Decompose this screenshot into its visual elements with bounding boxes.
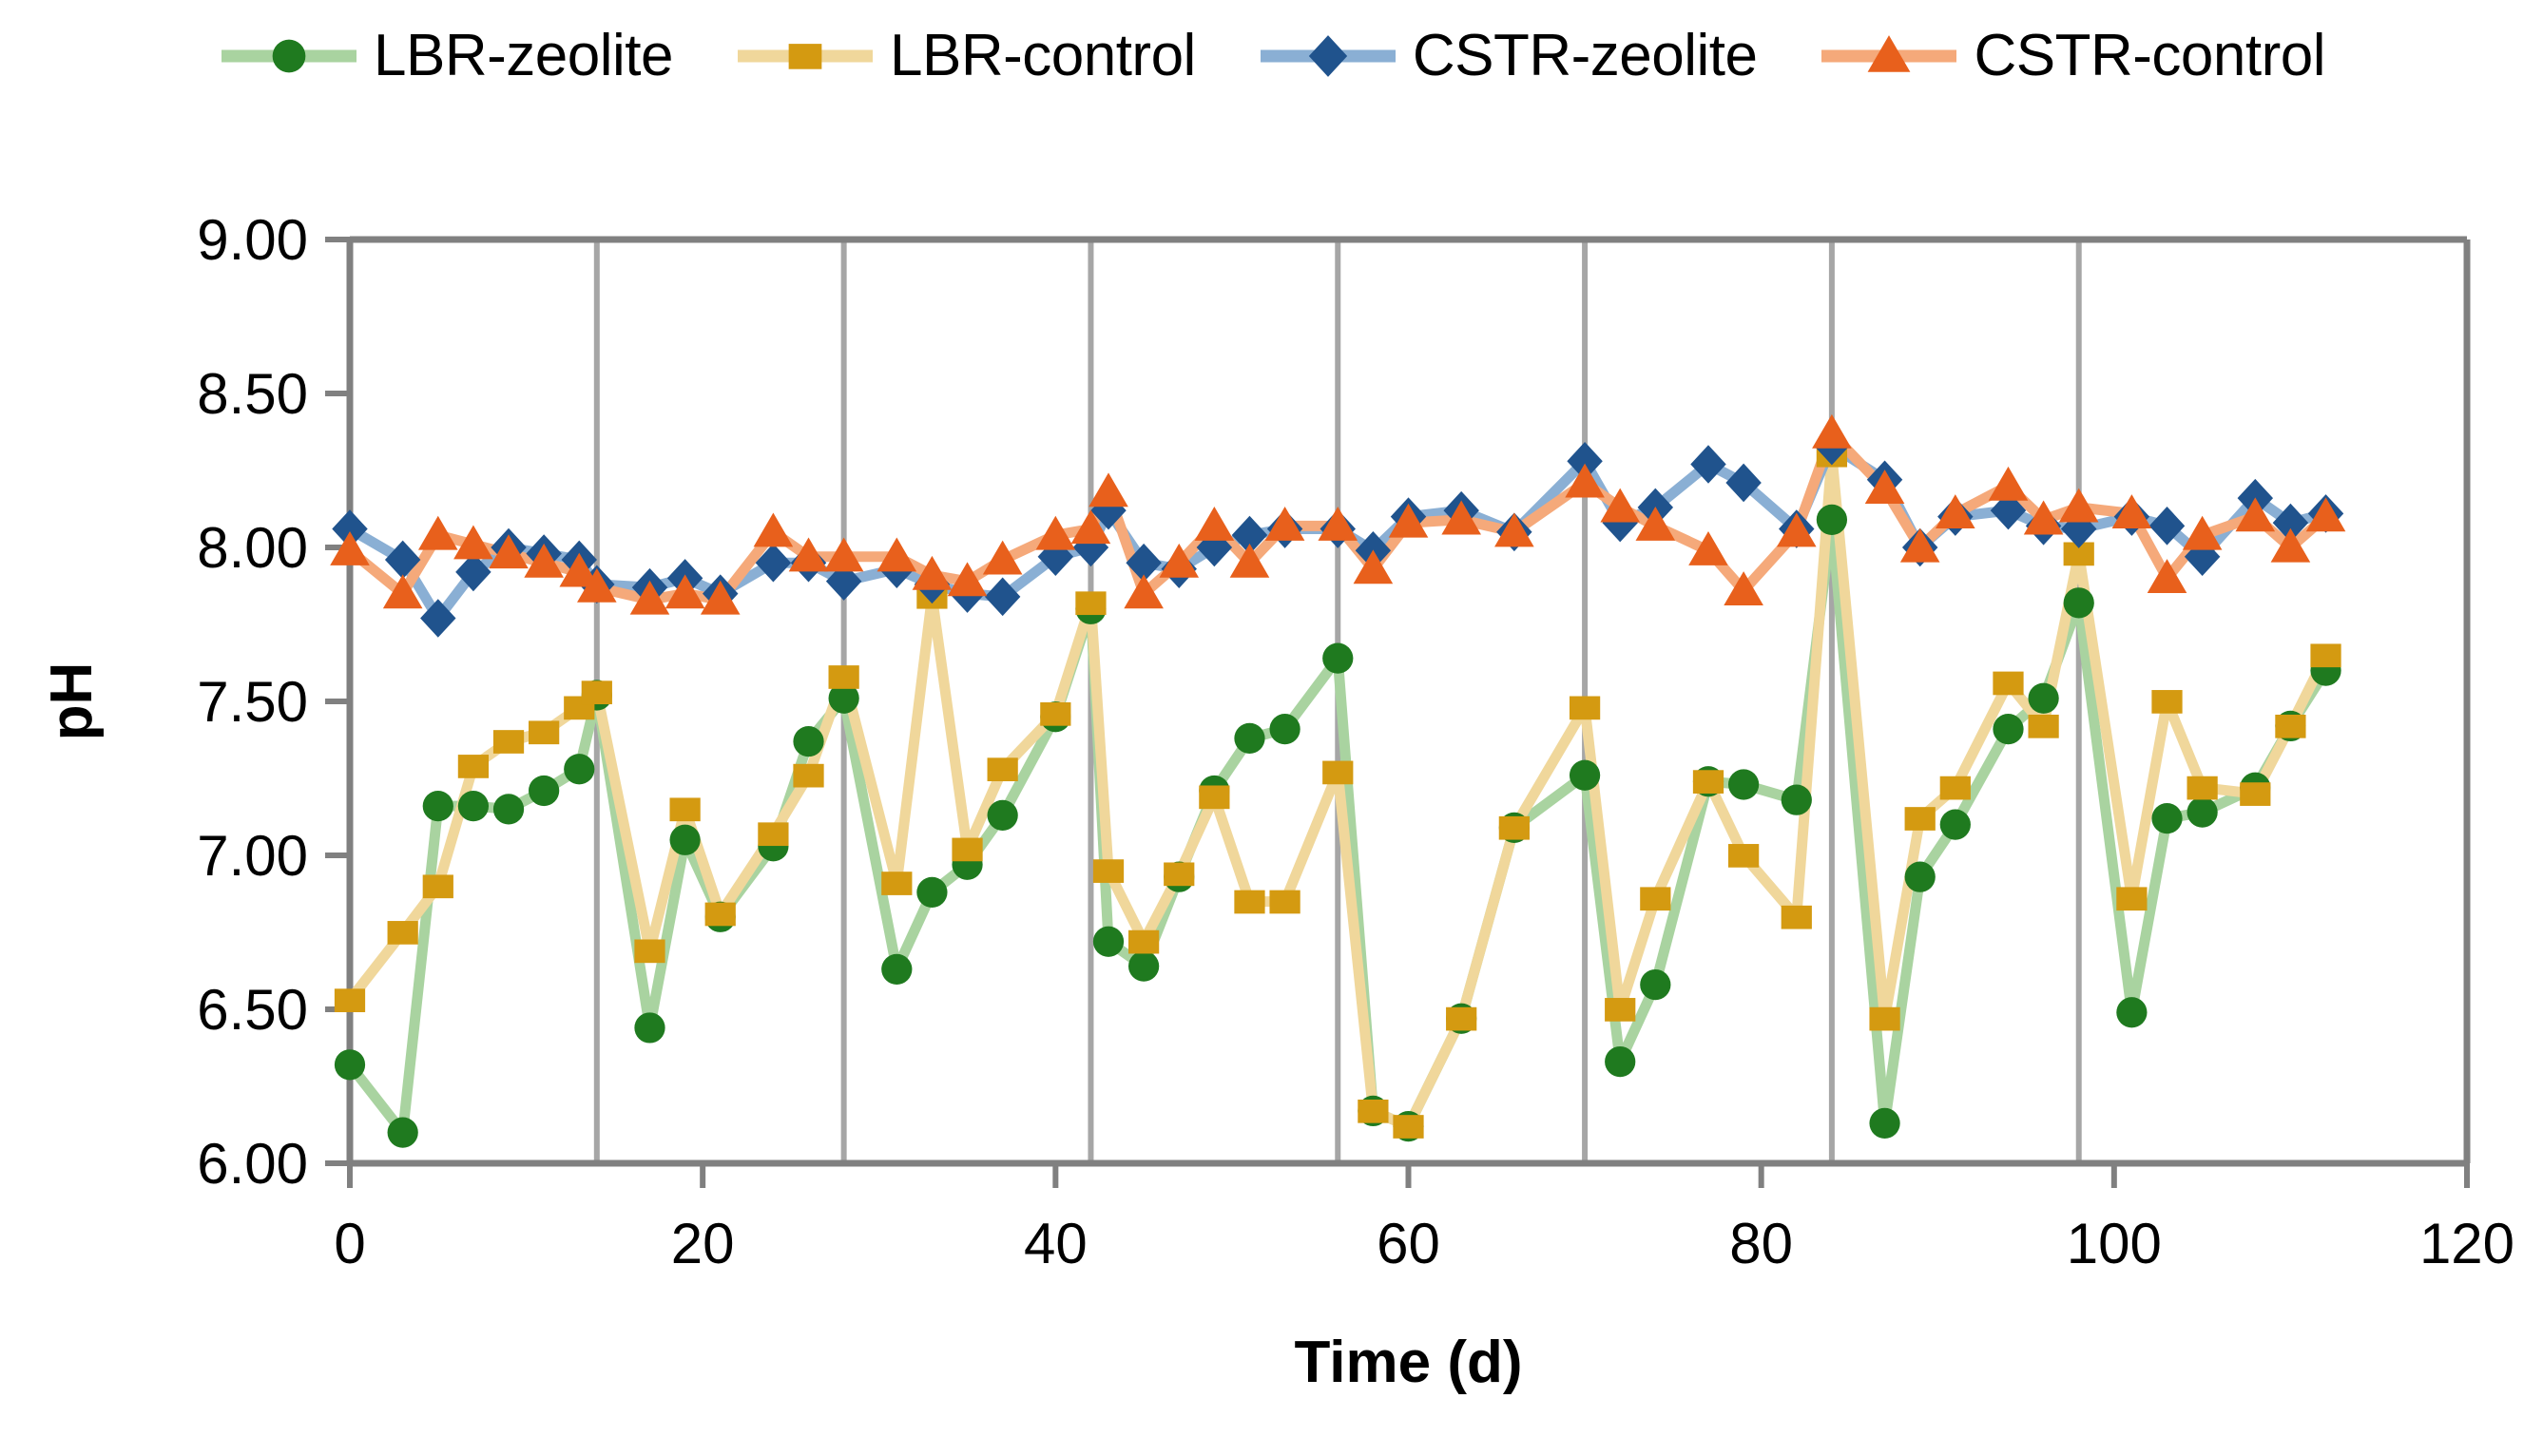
data-point-circle	[1234, 723, 1264, 754]
data-point-square	[829, 665, 859, 689]
data-point-square	[1040, 702, 1070, 726]
x-tick-label: 120	[2419, 1212, 2514, 1275]
data-point-triangle	[754, 513, 794, 547]
data-point-circle	[634, 1012, 665, 1043]
y-tick-label: 8.00	[197, 516, 308, 580]
y-axis-ticks-group: 6.006.507.007.508.008.509.00	[197, 208, 350, 1196]
data-point-square	[1869, 1007, 1899, 1031]
chart-plot-svg: 6.006.507.007.508.008.509.00020406080100…	[0, 0, 2543, 1456]
data-point-circle	[793, 726, 823, 757]
data-point-square	[458, 755, 489, 778]
data-point-square	[1164, 862, 1194, 886]
data-point-triangle	[1088, 472, 1128, 507]
data-point-square	[1234, 891, 1264, 914]
data-point-circle	[1993, 714, 2023, 744]
data-point-square	[1075, 591, 1106, 615]
data-point-square	[881, 872, 912, 895]
x-tick-label: 40	[1024, 1212, 1088, 1275]
data-point-square	[2151, 690, 2182, 714]
data-point-circle	[881, 954, 912, 985]
data-point-square	[952, 838, 982, 862]
data-point-square	[582, 680, 612, 704]
data-point-square	[793, 764, 823, 788]
data-point-circle	[669, 825, 700, 855]
y-tick-label: 9.00	[197, 208, 308, 272]
data-point-circle	[458, 791, 489, 821]
data-point-triangle	[1812, 414, 1852, 449]
data-point-circle	[916, 877, 947, 908]
data-point-circle	[1093, 927, 1124, 957]
data-point-square	[529, 720, 559, 744]
data-point-circle	[1269, 714, 1300, 744]
ph-time-series-chart: LBR-zeoliteLBR-controlCSTR-zeoliteCSTR-c…	[0, 0, 2543, 1456]
data-point-square	[1570, 697, 1600, 720]
axes-group	[350, 239, 2467, 1163]
data-point-triangle	[1195, 507, 1235, 541]
data-point-circle	[1322, 643, 1353, 674]
data-point-square	[1905, 807, 1936, 831]
data-point-square	[1322, 761, 1353, 785]
data-point-square	[634, 939, 665, 963]
data-point-square	[1499, 816, 1530, 840]
x-tick-label: 100	[2067, 1212, 2162, 1275]
data-point-square	[493, 730, 524, 754]
x-tick-label: 60	[1377, 1212, 1440, 1275]
data-point-circle	[2151, 803, 2182, 833]
y-tick-label: 6.00	[197, 1132, 308, 1196]
data-point-circle	[564, 754, 594, 784]
x-axis-ticks-group: 020406080100120	[334, 1163, 2514, 1275]
data-point-square	[2310, 643, 2341, 667]
data-point-square	[423, 874, 453, 898]
data-point-square	[988, 757, 1018, 781]
data-point-square	[2240, 782, 2270, 806]
x-tick-label: 80	[1729, 1212, 1793, 1275]
data-point-square	[2028, 715, 2058, 738]
data-point-circle	[493, 794, 524, 824]
data-point-square	[2275, 715, 2305, 738]
y-axis-title: pH	[39, 662, 105, 741]
x-tick-label: 20	[671, 1212, 735, 1275]
data-point-circle	[1728, 769, 1759, 799]
data-point-square	[1693, 770, 1724, 794]
data-point-square	[1093, 859, 1124, 883]
data-point-square	[1128, 930, 1159, 954]
data-point-triangle	[418, 516, 458, 550]
y-tick-label: 6.50	[197, 978, 308, 1042]
data-point-circle	[423, 791, 453, 821]
data-point-circle	[1782, 785, 1812, 815]
data-point-circle	[388, 1117, 418, 1147]
y-tick-label: 7.00	[197, 824, 308, 888]
data-point-square	[1640, 887, 1670, 910]
data-point-square	[1782, 906, 1812, 929]
data-point-square	[388, 921, 418, 945]
data-point-square	[2187, 776, 2218, 800]
data-point-circle	[1570, 760, 1600, 791]
data-point-square	[1993, 672, 2023, 696]
y-tick-label: 8.50	[197, 362, 308, 426]
data-point-square	[705, 903, 736, 927]
data-point-circle	[1640, 969, 1670, 1000]
x-tick-label: 0	[334, 1212, 365, 1275]
data-point-square	[1358, 1100, 1388, 1123]
data-point-square	[1393, 1115, 1423, 1139]
data-point-circle	[2064, 587, 2094, 618]
data-point-square	[1605, 998, 1635, 1022]
data-point-square	[1269, 891, 1300, 914]
data-point-circle	[1869, 1108, 1899, 1139]
data-point-circle	[1817, 505, 1847, 535]
data-point-circle	[335, 1049, 365, 1080]
data-point-square	[1446, 1007, 1476, 1031]
data-point-circle	[1128, 951, 1159, 982]
data-point-circle	[2116, 997, 2147, 1027]
data-point-square	[1199, 785, 1229, 809]
y-tick-label: 7.50	[197, 670, 308, 734]
data-point-square	[2116, 887, 2147, 910]
data-point-circle	[1940, 809, 1971, 839]
data-point-circle	[988, 800, 1018, 831]
data-point-triangle	[1989, 467, 2029, 501]
data-point-square	[1940, 776, 1971, 800]
data-point-circle	[529, 776, 559, 806]
data-point-circle	[1905, 862, 1936, 892]
data-point-circle	[1605, 1046, 1635, 1077]
data-point-square	[335, 988, 365, 1012]
x-axis-title: Time (d)	[1295, 1330, 1523, 1395]
data-point-square	[758, 822, 788, 846]
data-point-circle	[2028, 683, 2058, 714]
data-point-square	[1728, 844, 1759, 868]
data-point-circle	[2187, 797, 2218, 828]
data-point-square	[669, 797, 700, 821]
